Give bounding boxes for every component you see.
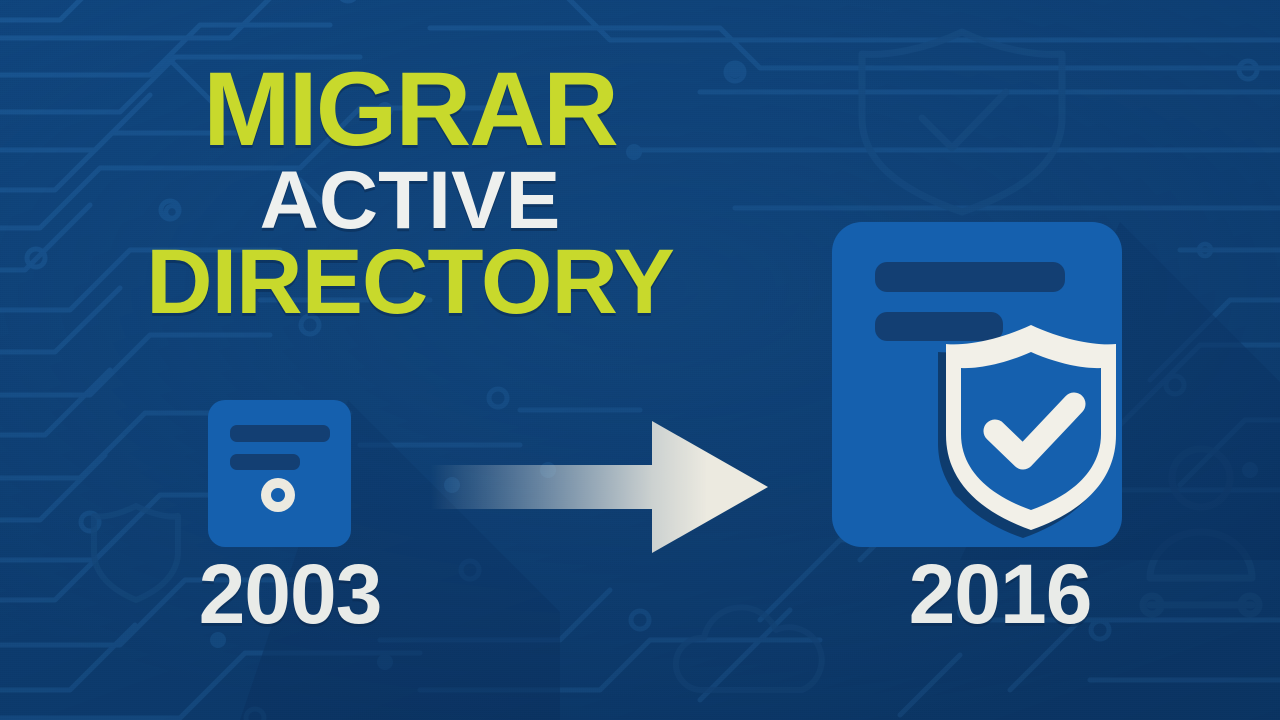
server-2016-icon (820, 212, 1160, 557)
graphic-canvas: MIGRAR ACTIVE DIRECTORY (0, 0, 1280, 720)
page-title: MIGRAR ACTIVE DIRECTORY (0, 62, 820, 325)
arrow-right-icon (430, 415, 770, 560)
title-line-migrar: MIGRAR (0, 62, 820, 159)
title-line-directory: DIRECTORY (0, 240, 820, 325)
title-line-active: ACTIVE (0, 163, 820, 238)
year-label-2003: 2003 (170, 552, 410, 636)
year-label-2016: 2016 (880, 552, 1120, 636)
server-2003-icon (200, 392, 360, 552)
